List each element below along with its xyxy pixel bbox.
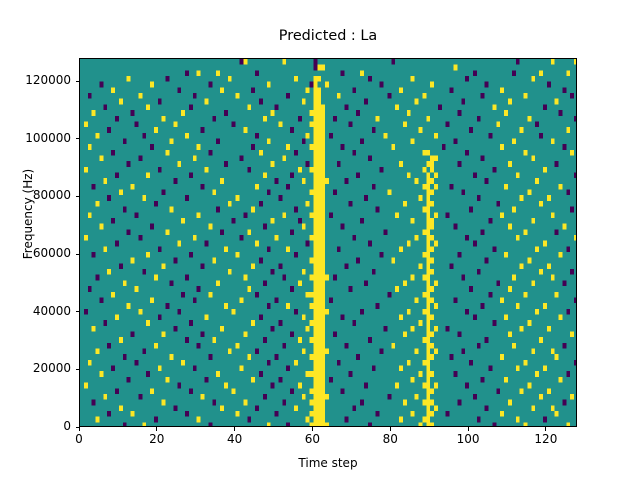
y-axis-label: Frequency (Hz) <box>21 139 35 289</box>
x-tick-mark <box>545 427 546 431</box>
y-tick-label: 60000 <box>0 246 71 260</box>
y-tick-mark <box>76 138 80 139</box>
y-tick-mark <box>76 254 80 255</box>
y-tick-label: 120000 <box>0 73 71 87</box>
x-tick-label: 80 <box>360 432 420 446</box>
x-tick-label: 100 <box>438 432 498 446</box>
x-tick-label: 120 <box>516 432 576 446</box>
page-title: Predicted : La <box>79 28 577 44</box>
x-tick-label: 40 <box>205 432 265 446</box>
x-tick-label: 0 <box>49 432 109 446</box>
y-tick-label: 80000 <box>0 188 71 202</box>
y-tick-mark <box>76 369 80 370</box>
y-tick-label: 20000 <box>0 361 71 375</box>
y-tick-label: 0 <box>0 419 71 433</box>
x-tick-mark <box>390 427 391 431</box>
y-tick-mark <box>76 81 80 82</box>
x-tick-mark <box>156 427 157 431</box>
x-tick-mark <box>234 427 235 431</box>
x-tick-label: 20 <box>127 432 187 446</box>
y-tick-mark <box>76 196 80 197</box>
figure-canvas: Predicted : La Frequency (Hz) Time step … <box>0 0 640 480</box>
x-tick-mark <box>312 427 313 431</box>
y-tick-label: 100000 <box>0 131 71 145</box>
heatmap-image <box>80 59 577 427</box>
heatmap-axes[interactable] <box>79 58 577 427</box>
x-tick-mark <box>468 427 469 431</box>
y-tick-label: 40000 <box>0 304 71 318</box>
y-tick-mark <box>76 311 80 312</box>
x-axis-label: Time step <box>79 456 577 470</box>
x-tick-label: 60 <box>282 432 342 446</box>
x-tick-mark <box>79 427 80 431</box>
